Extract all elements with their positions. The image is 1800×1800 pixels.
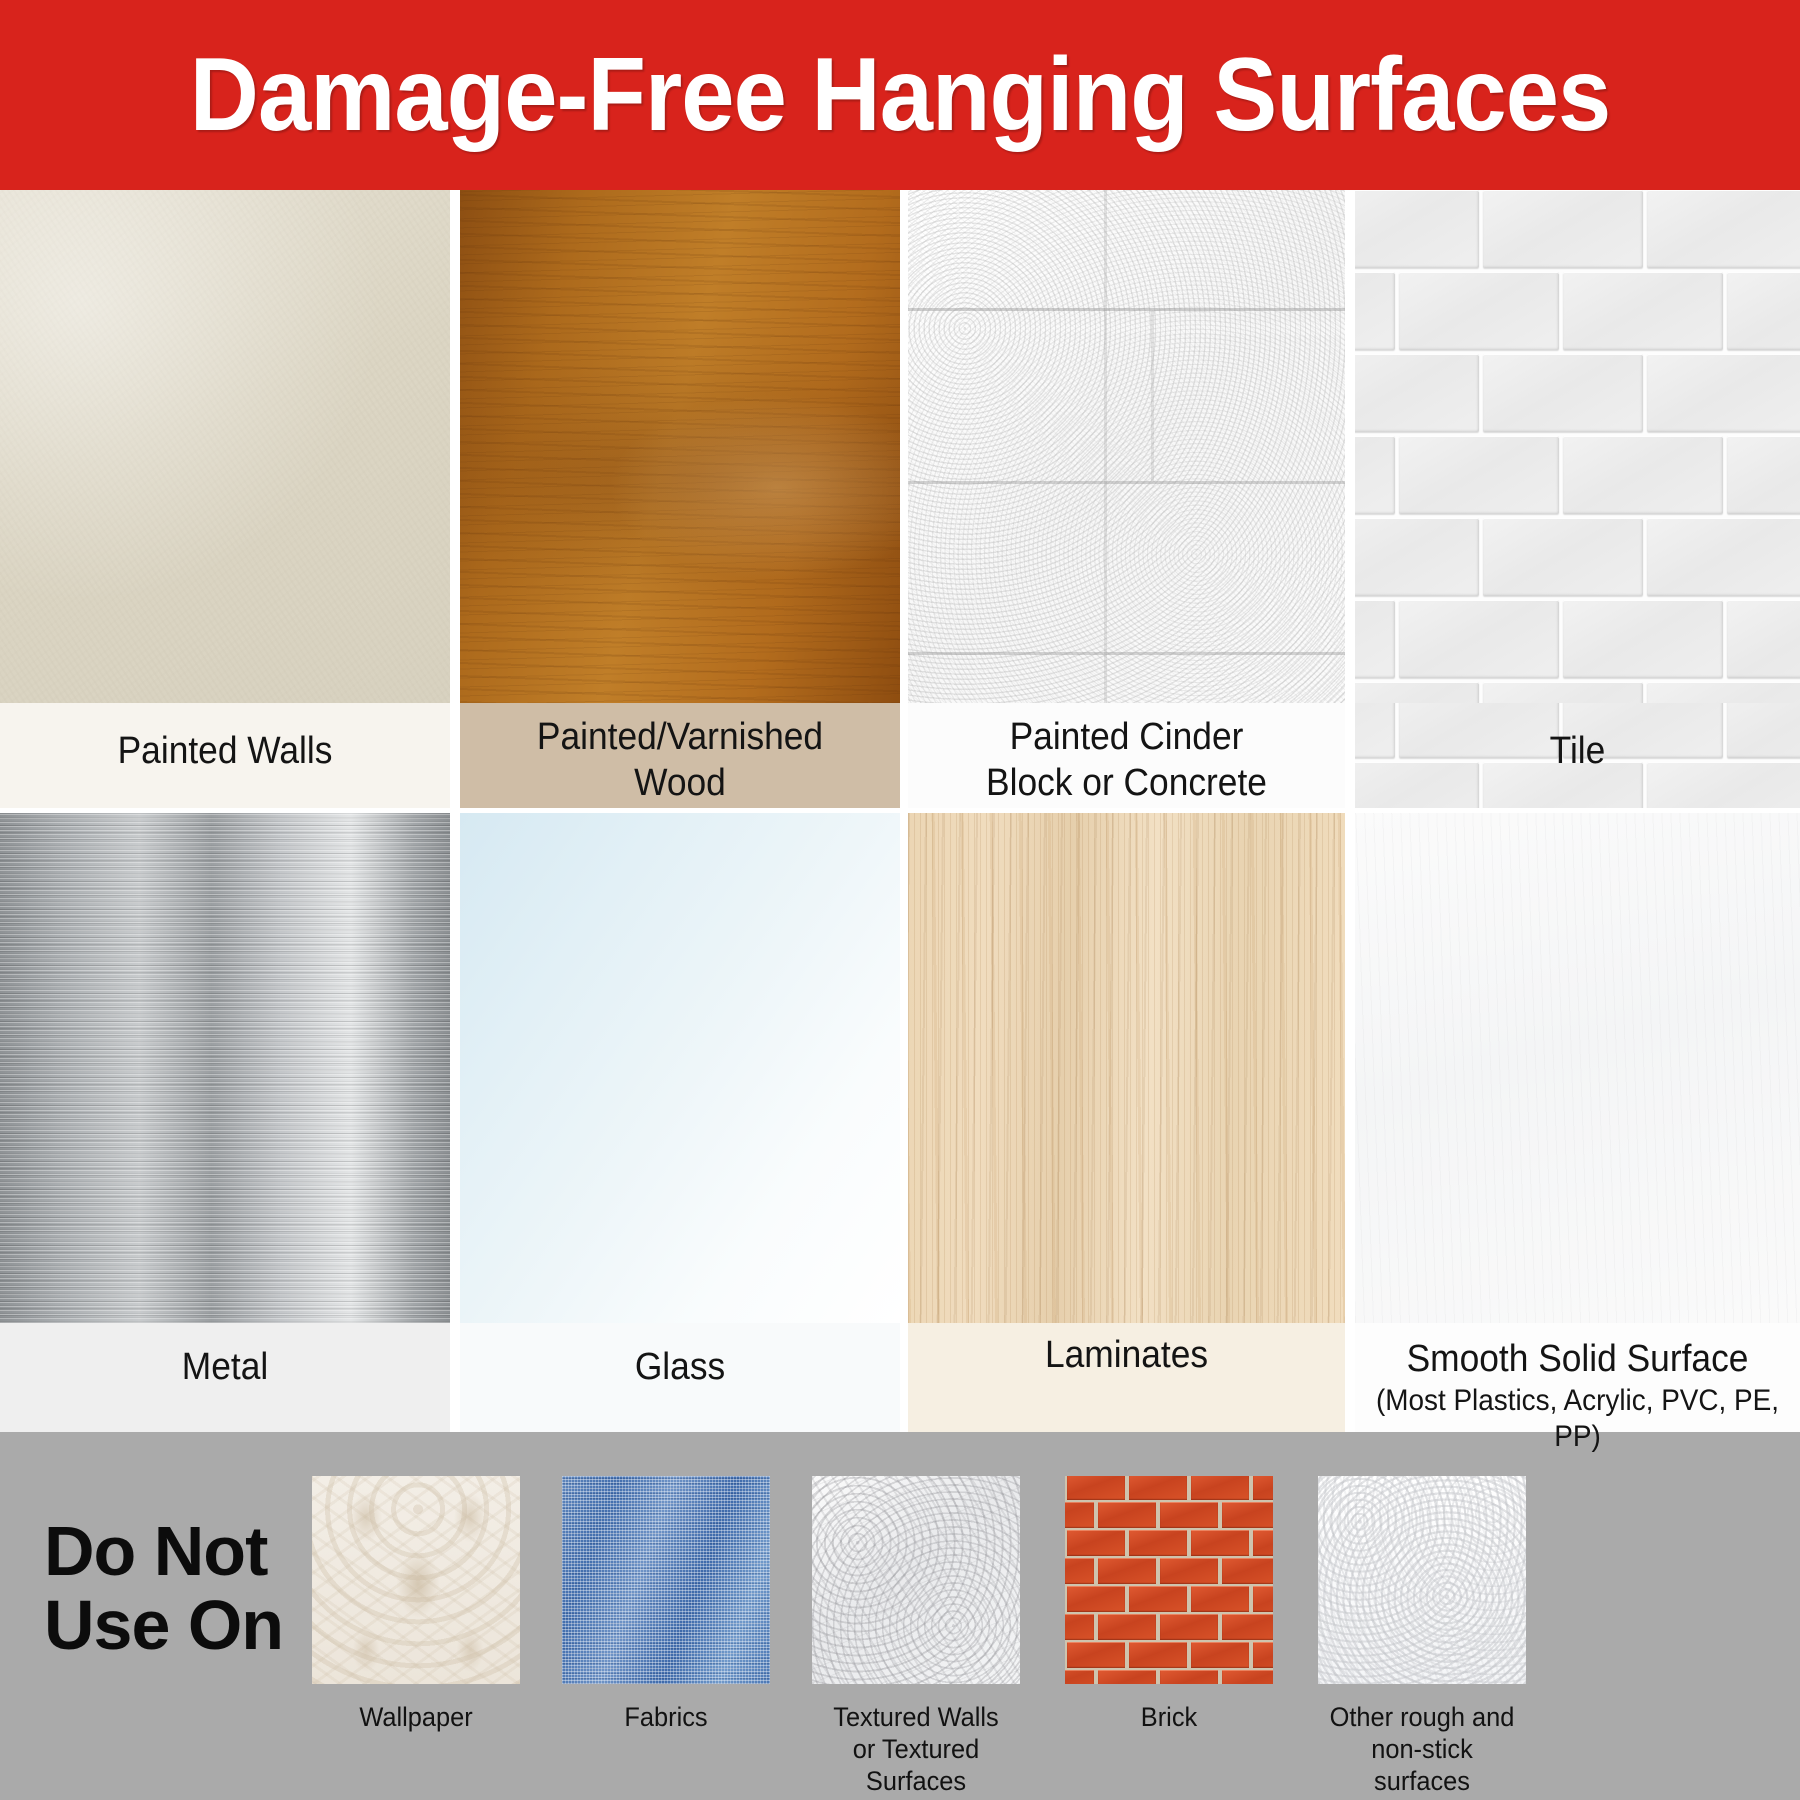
brick-unit [1098, 1670, 1156, 1684]
surface-label-glass: Glass [475, 1345, 884, 1389]
surface-label-cinder-block: Painted Cinder Block or Concrete [923, 715, 1329, 806]
tile-unit [1647, 682, 1800, 703]
brick-unit [1191, 1476, 1249, 1500]
do-not-use-label-text: Brick [1141, 1702, 1197, 1732]
tile-row [1355, 518, 1800, 596]
popcorn-rough-texture [1318, 1476, 1526, 1684]
tile-unit [1483, 682, 1643, 703]
brick-unit [1065, 1558, 1094, 1584]
brick-unit [1129, 1530, 1187, 1556]
surface-label-subtext: (Most Plastics, Acrylic, PVC, PE, PP) [1371, 1383, 1785, 1453]
surface-cell-painted-walls[interactable] [0, 190, 450, 703]
tile-unit [1355, 600, 1395, 678]
tile-unit [1399, 436, 1559, 514]
brick-unit [1065, 1502, 1094, 1528]
do-not-use-section: Do Not Use On Wallpaper Fabrics Textured… [0, 1432, 1800, 1800]
tile-row [1355, 190, 1800, 268]
tile-unit [1563, 600, 1723, 678]
do-not-use-label-subtext: non-stick surfaces [1371, 1734, 1473, 1796]
brick-unit [1160, 1558, 1218, 1584]
tile-unit [1727, 600, 1800, 678]
red-brick-texture [1065, 1476, 1273, 1684]
tile-unit [1483, 518, 1643, 596]
brick-unit [1191, 1642, 1249, 1668]
tile-unit [1355, 518, 1479, 596]
surface-label-text: Painted Cinder [1010, 716, 1244, 758]
surface-label-text: Laminates [1045, 1334, 1208, 1376]
surface-label-band-painted-walls: Painted Walls [0, 703, 450, 808]
brick-unit [1253, 1530, 1273, 1556]
surface-label-band-metal: Metal [0, 1323, 450, 1432]
do-not-use-heading-line1: Do Not [44, 1514, 344, 1588]
surface-label-band-cinder-block: Painted Cinder Block or Concrete [908, 703, 1345, 808]
tile-unit [1355, 354, 1479, 432]
tile-unit [1647, 518, 1800, 596]
tile-row [1355, 436, 1800, 514]
tile-row [1355, 354, 1800, 432]
brick-unit [1160, 1502, 1218, 1528]
do-not-use-item-textured-walls[interactable]: Textured Walls or Textured Surfaces [812, 1476, 1020, 1798]
glass-gradient-texture [460, 813, 900, 1323]
denim-fabric-texture [562, 1476, 770, 1684]
surface-label-text: Smooth Solid Surface [1407, 1338, 1749, 1380]
tile-unit [1355, 272, 1395, 350]
surface-cell-laminates[interactable] [908, 813, 1345, 1323]
brick-unit [1129, 1586, 1187, 1612]
surface-label-painted-wood: Painted/Varnished Wood [475, 715, 884, 806]
infographic-root: Damage-Free Hanging Surfaces Painted Wal… [0, 0, 1800, 1800]
brick-row [1065, 1586, 1273, 1612]
brick-unit [1253, 1642, 1273, 1668]
surface-label-band-smooth-solid: Smooth Solid Surface (Most Plastics, Acr… [1355, 1323, 1800, 1432]
do-not-use-label-rough: Other rough and non-stick surfaces [1324, 1702, 1520, 1798]
surface-label-metal: Metal [16, 1345, 435, 1389]
tile-unit [1563, 272, 1723, 350]
brick-row [1065, 1476, 1273, 1500]
light-oak-laminate-texture [908, 813, 1345, 1323]
brick-unit [1222, 1502, 1273, 1528]
surface-label-text: Painted/Varnished [537, 716, 823, 758]
brick-row [1065, 1558, 1273, 1584]
do-not-use-label-fabrics: Fabrics [568, 1702, 764, 1734]
do-not-use-label-wallpaper: Wallpaper [318, 1702, 514, 1734]
brick-unit [1222, 1614, 1273, 1640]
surface-cell-tile[interactable] [1355, 190, 1800, 703]
do-not-use-label-text: Textured Walls [833, 1702, 998, 1732]
wood-grain-texture [460, 190, 900, 703]
brick-unit [1222, 1670, 1273, 1684]
tile-row [1355, 600, 1800, 678]
brick-unit [1160, 1614, 1218, 1640]
do-not-use-heading-line2: Use On [44, 1588, 344, 1662]
surface-label-text: Tile [1550, 730, 1606, 772]
smooth-white-texture [1355, 813, 1800, 1323]
header-banner: Damage-Free Hanging Surfaces [0, 0, 1800, 190]
brick-row [1065, 1614, 1273, 1640]
tile-row [1355, 272, 1800, 350]
brick-unit [1253, 1476, 1273, 1500]
do-not-use-label-text: Wallpaper [359, 1702, 472, 1732]
cinder-block-texture [908, 190, 1345, 703]
stucco-texture [812, 1476, 1020, 1684]
brick-unit [1065, 1614, 1094, 1640]
brick-unit [1129, 1476, 1187, 1500]
surface-label-text: Glass [635, 1346, 725, 1388]
do-not-use-heading: Do Not Use On [44, 1514, 344, 1662]
brick-unit [1222, 1558, 1273, 1584]
tile-row [1355, 682, 1800, 703]
tile-unit [1399, 600, 1559, 678]
approved-surfaces-grid: Painted Walls Painted/Varnished Wood Pai… [0, 190, 1800, 1432]
surface-label-tile: Tile [1371, 729, 1785, 773]
brick-unit [1098, 1558, 1156, 1584]
surface-label-subtext: Block or Concrete [923, 761, 1329, 805]
surface-label-laminates: Laminates [923, 1333, 1329, 1377]
surface-cell-smooth-solid[interactable] [1355, 813, 1800, 1323]
surface-label-painted-walls: Painted Walls [16, 729, 435, 773]
brick-unit [1191, 1586, 1249, 1612]
subway-tile-texture [1355, 190, 1800, 703]
brick-unit [1160, 1670, 1218, 1684]
painted-wall-texture [0, 190, 450, 703]
do-not-use-label-brick: Brick [1071, 1702, 1267, 1734]
brick-row [1065, 1502, 1273, 1528]
brushed-metal-texture [0, 813, 450, 1323]
brick-row [1065, 1670, 1273, 1684]
surface-label-band-tile: Tile [1355, 703, 1800, 808]
surface-label-band-glass: Glass [460, 1323, 900, 1432]
brick-unit [1067, 1530, 1125, 1556]
surface-label-text: Painted Walls [118, 730, 333, 772]
surface-cell-cinder-block[interactable] [908, 190, 1345, 703]
brick-unit [1065, 1670, 1094, 1684]
brick-unit [1098, 1614, 1156, 1640]
brick-unit [1191, 1530, 1249, 1556]
surface-label-text: Metal [182, 1346, 268, 1388]
tile-unit [1355, 436, 1395, 514]
brick-unit [1098, 1502, 1156, 1528]
brick-unit [1129, 1642, 1187, 1668]
brick-row [1065, 1642, 1273, 1668]
do-not-use-item-rough[interactable]: Other rough and non-stick surfaces [1318, 1476, 1526, 1798]
surface-label-band-laminates: Laminates [908, 1323, 1345, 1432]
surface-cell-metal[interactable] [0, 813, 450, 1323]
brick-unit [1067, 1642, 1125, 1668]
surface-label-band-painted-wood: Painted/Varnished Wood [460, 703, 900, 808]
do-not-use-label-text: Fabrics [624, 1702, 707, 1732]
do-not-use-label-text: Other rough and [1330, 1702, 1515, 1732]
do-not-use-label-subtext: or Textured Surfaces [853, 1734, 980, 1796]
tile-unit [1563, 436, 1723, 514]
tile-unit [1647, 354, 1800, 432]
do-not-use-item-fabrics[interactable]: Fabrics [562, 1476, 770, 1734]
tile-unit [1483, 354, 1643, 432]
surface-label-subtext: Wood [475, 761, 884, 805]
tile-unit [1727, 272, 1800, 350]
surface-cell-glass[interactable] [460, 813, 900, 1323]
do-not-use-label-textured-walls: Textured Walls or Textured Surfaces [818, 1702, 1014, 1798]
do-not-use-item-wallpaper[interactable]: Wallpaper [312, 1476, 520, 1734]
tile-unit [1647, 190, 1800, 268]
brick-unit [1253, 1586, 1273, 1612]
tile-unit [1355, 682, 1479, 703]
tile-unit [1727, 436, 1800, 514]
damask-wallpaper-texture [312, 1476, 520, 1684]
brick-unit [1067, 1586, 1125, 1612]
do-not-use-item-brick[interactable]: Brick [1065, 1476, 1273, 1734]
brick-row [1065, 1530, 1273, 1556]
surface-label-smooth-solid: Smooth Solid Surface (Most Plastics, Acr… [1371, 1337, 1785, 1454]
tile-unit [1355, 190, 1479, 268]
brick-unit [1067, 1476, 1125, 1500]
surface-cell-painted-wood[interactable] [460, 190, 900, 703]
tile-unit [1399, 272, 1559, 350]
tile-unit [1483, 190, 1643, 268]
page-title: Damage-Free Hanging Surfaces [190, 43, 1611, 147]
